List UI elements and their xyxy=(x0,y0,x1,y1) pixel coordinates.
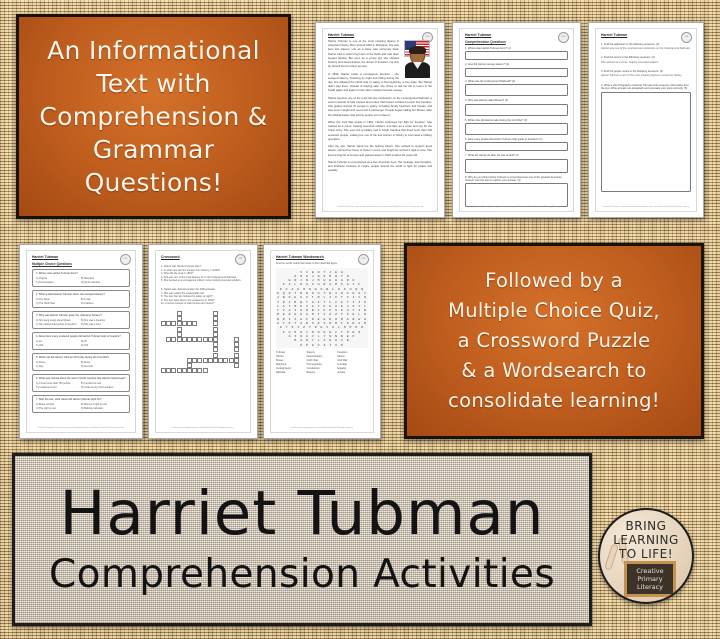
page-footer: Creative Primary Literacy www.teacherspa… xyxy=(601,206,691,208)
mcq-option[interactable]: B) Scout xyxy=(81,361,126,364)
mcq-option[interactable]: A) Virginia xyxy=(36,277,81,280)
paragraph: Harriet Tubman is remembered as a true A… xyxy=(328,161,432,174)
mcq-option[interactable]: A) It freed more than 700 people xyxy=(36,382,81,385)
page-crossword-inner: CPL Crossword 1. Where was Harriet Tubma… xyxy=(155,250,251,433)
page-mcq-title: Harriet Tubman xyxy=(32,255,130,259)
mcq-options: A) Virginia C) Pennsylvania B) Maryland … xyxy=(36,277,126,285)
grammar-prompt: 1. Find the adjectives in the following … xyxy=(601,43,691,46)
preview-page-grammar: CPL Harriet Tubman 1. Find the adjective… xyxy=(588,22,704,218)
grammar-sentence: Harriet Tubman is one of the most inspir… xyxy=(601,74,691,77)
crossword-cell[interactable] xyxy=(171,321,176,326)
crossword-cell[interactable] xyxy=(208,337,213,342)
mcq-item[interactable]: 4. About how many enslaved people did Ha… xyxy=(32,332,130,350)
brand-tagline-line-2: LEARNING xyxy=(600,533,692,547)
crossword-cell[interactable] xyxy=(182,368,187,373)
promo-right-line-4: & a Wordsearch to xyxy=(461,356,646,386)
page-grammar-title: Harriet Tubman xyxy=(601,33,691,37)
mcq-options: A) 10 C) 300 B) 70 D) 700 xyxy=(36,340,126,348)
mcq-option-column-left: A) She sang songs about Moses C) She hel… xyxy=(36,319,81,327)
promo-panel-right: Followed by a Multiple Choice Quiz, a Cr… xyxy=(404,243,704,439)
promo-top-line-2: Text with xyxy=(96,67,210,100)
crossword-cell[interactable] xyxy=(229,358,234,363)
question-text: 2. How did Harriet escape slavery? (2) xyxy=(465,63,568,66)
mcq-option[interactable]: B) She was a preacher xyxy=(81,319,126,322)
mcq-option[interactable]: D) Building railroads xyxy=(81,407,126,410)
crossword-cell[interactable] xyxy=(234,363,239,368)
mcq-option[interactable]: D) 700 xyxy=(81,344,126,347)
mcq-option-column-left: A) The Moon C) The North Star xyxy=(36,298,81,306)
chalkboard-line-2: Primary xyxy=(637,575,662,583)
wordsearch-word-column: SlaveryDeterminationNorth StarPennsylvan… xyxy=(307,351,338,374)
mcq-option[interactable]: D) General xyxy=(81,365,126,368)
mcq-option[interactable]: C) The North Star xyxy=(36,302,81,305)
mcq-item[interactable]: 7. After the war, what cause did Harriet… xyxy=(32,395,130,413)
grammar-prompt: 3. Find the proper nouns in the followin… xyxy=(601,70,691,73)
crossword-cell[interactable] xyxy=(203,368,208,373)
mcq-option-column-left: A) Better schools C) The right to rest xyxy=(36,403,81,411)
page-subtitle: Comprehension Activities xyxy=(49,549,555,601)
page-wordsearch-inner: CPL Harriet Tubman Wordsearch Find the w… xyxy=(270,250,374,433)
page-text-inner: CPL Harriet Tubman Harriet Tubman is one… xyxy=(322,28,438,212)
mcq-options: A) Nurse C) Spy B) Scout D) General xyxy=(36,361,126,369)
mcq-options: A) She sang songs about Moses C) She hel… xyxy=(36,319,126,327)
crossword-grid[interactable] xyxy=(161,311,245,383)
promo-top-line-5: Questions! xyxy=(85,166,223,199)
mcq-option[interactable]: A) Better schools xyxy=(36,403,81,406)
brand-tagline-line-1: BRING xyxy=(600,519,692,533)
page-footer: Creative Primary Literacy www.teacherspa… xyxy=(328,206,432,208)
crossword-clue: 10. A secret network of safe houses and … xyxy=(161,302,245,306)
mcq-option-column-right: B) Women's right to vote D) Building rai… xyxy=(81,403,126,411)
wordsearch-word-column: TubmanHarrietMosesMarylandUndergroundRai… xyxy=(276,351,307,374)
preview-page-crossword: CPL Crossword 1. Where was Harriet Tubma… xyxy=(148,244,258,439)
grammar-sentence: She worked as a nurse, helping wounded s… xyxy=(601,61,691,64)
answer-box[interactable] xyxy=(601,92,691,192)
mcq-option[interactable]: D) She was a chef xyxy=(81,323,126,326)
mcq-option-column-right: B) It ended the war D) It was led by Uni… xyxy=(81,382,126,390)
mcq-question: 3. Why was Harriet Tubman given the nick… xyxy=(36,314,126,317)
question-text: 5. What roles did Harriet take during th… xyxy=(465,119,568,122)
page-footer: www.teacherspayteachers.com/Store/Creati… xyxy=(276,427,368,429)
cpl-stamp-icon: CPL xyxy=(558,32,569,43)
mcq-question: 5. What role did Harriet Tubman NOT play… xyxy=(36,356,126,359)
page-footer: Creative Primary Literacy www.teacherspa… xyxy=(32,427,130,429)
answer-box[interactable] xyxy=(465,123,568,135)
crossword-cell[interactable] xyxy=(171,337,176,342)
question-text: 3. What was the Underground Railroad? (2… xyxy=(465,80,568,83)
mcq-option-column-right: B) Scout D) General xyxy=(81,361,126,369)
mcq-option-column-left: A) 10 C) 300 xyxy=(36,340,81,348)
wordsearch-word-column: FreedomMosesCivil WarCourageEqualityJust… xyxy=(337,351,368,374)
answer-box[interactable] xyxy=(465,142,568,151)
mcq-question: 2. What guided Harriet Tubman when she e… xyxy=(36,293,126,296)
mcq-option[interactable]: C) Pennsylvania xyxy=(36,281,81,284)
cpl-stamp-icon: CPL xyxy=(120,254,131,265)
question-text: 4. Why was Harriet called Moses? (2) xyxy=(465,99,568,102)
page-questions-subtitle: Comprehension Questions xyxy=(465,40,568,44)
mcq-options: A) Better schools C) The right to rest B… xyxy=(36,403,126,411)
question-text: 6. How many people did Harriet Tubman he… xyxy=(465,138,568,141)
mcq-option[interactable]: B) Women's right to vote xyxy=(81,403,126,406)
promo-right-line-3: a Crossword Puzzle xyxy=(458,326,651,356)
paragraph: When the Civil War began in 1861, Harrie… xyxy=(328,121,432,142)
page-footer: www.teacherspayteachers.com/Store/Creati… xyxy=(161,427,245,429)
wordsearch-word: Bravery xyxy=(307,371,336,375)
mcq-question: 6. What was special about the raid in So… xyxy=(36,377,126,380)
mcq-option[interactable]: B) A map xyxy=(81,298,126,301)
title-banner: Harriet Tubman Comprehension Activities xyxy=(12,453,592,626)
mcq-option-column-left: A) Virginia C) Pennsylvania xyxy=(36,277,81,285)
mcq-option-column-right: B) A map D) A lantern xyxy=(81,298,126,306)
grammar-prompt: 2. Find the nouns in the following sente… xyxy=(601,56,691,59)
mcq-option-column-left: A) Nurse C) Spy xyxy=(36,361,81,369)
preview-page-wordsearch: CPL Harriet Tubman Wordsearch Find the w… xyxy=(263,244,381,439)
mcq-item[interactable]: 2. What guided Harriet Tubman when she e… xyxy=(32,290,130,308)
cpl-stamp-icon: CPL xyxy=(358,254,369,265)
question-text: 8. Why do you think Harriet Tubman is re… xyxy=(465,176,568,182)
answer-box[interactable] xyxy=(465,183,568,207)
promo-right-line-2: Multiple Choice Quiz, xyxy=(448,296,660,326)
page-text-title: Harriet Tubman xyxy=(328,33,432,37)
mcq-option[interactable]: C) The right to rest xyxy=(36,407,81,410)
preview-page-text: CPL Harriet Tubman Harriet Tubman is one… xyxy=(315,22,445,218)
wordsearch-grid[interactable]: V I E N Y J E H O M D J Q S M W Y N W Q … xyxy=(276,268,368,348)
question-text: 1. Where was Harriet Tubman born? (1) xyxy=(465,47,568,50)
grammar-prompt: 4. Write a short biography of Harriet Tu… xyxy=(601,84,691,90)
portrait-hair xyxy=(409,46,426,54)
mcq-item[interactable]: 3. Why was Harriet Tubman given the nick… xyxy=(32,311,130,329)
brand-tagline-line-3: TO LIFE! xyxy=(600,547,692,561)
page-grammar-inner: CPL Harriet Tubman 1. Find the adjective… xyxy=(595,28,697,212)
product-cover: An Informational Text with Comprehension… xyxy=(0,0,720,639)
answer-box[interactable] xyxy=(465,68,568,77)
wordsearch-word: Railroad xyxy=(276,371,305,375)
question-text: 7. What did Harriet do after the war end… xyxy=(465,154,568,157)
mcq-item[interactable]: 1. Where was Harriet Tubman born? A) Vir… xyxy=(32,269,130,287)
cpl-stamp-icon: CPL xyxy=(235,254,246,265)
answer-box[interactable] xyxy=(465,84,568,96)
chalkboard-line-1: Creative xyxy=(636,567,663,575)
grammar-sentence: Harriet was one of the most famous condu… xyxy=(601,47,691,50)
page-wordsearch-title: Harriet Tubman Wordsearch xyxy=(276,255,368,259)
page-footer: Creative Primary Literacy www.teacherspa… xyxy=(465,206,568,208)
mcq-item[interactable]: 6. What was special about the raid in So… xyxy=(32,374,130,392)
wordsearch-instructions: Find the words below that relate to this… xyxy=(276,262,368,265)
crossword-cell[interactable] xyxy=(192,321,197,326)
preview-page-mcq: CPL Harriet Tubman Multiple Choice Quest… xyxy=(19,244,143,439)
mcq-question: 7. After the war, what cause did Harriet… xyxy=(36,398,126,401)
answer-box[interactable] xyxy=(465,51,568,60)
mcq-option[interactable]: B) 70 xyxy=(81,340,126,343)
chalkboard-line-3: Literacy xyxy=(637,583,663,591)
mcq-option[interactable]: B) It ended the war xyxy=(81,382,126,385)
page-title: Harriet Tubman xyxy=(60,479,545,549)
promo-right-line-1: Followed by a xyxy=(485,266,623,296)
mcq-option[interactable]: D) A lantern xyxy=(81,302,126,305)
wordsearch-word: Justice xyxy=(337,371,366,375)
mcq-option[interactable]: D) It was led by Union soldiers xyxy=(81,386,126,389)
mcq-option[interactable]: A) The Moon xyxy=(36,298,81,301)
mcq-option[interactable]: A) Nurse xyxy=(36,361,81,364)
page-mcq-inner: CPL Harriet Tubman Multiple Choice Quest… xyxy=(26,250,136,433)
mcq-options: A) It freed more than 700 people C) It c… xyxy=(36,382,126,390)
mcq-option-column-right: B) Maryland D) South Carolina xyxy=(81,277,126,285)
paragraph: After the war, Harriet spent her life he… xyxy=(328,145,432,158)
harriet-tubman-illustration xyxy=(402,40,432,78)
mcq-option[interactable]: B) Maryland xyxy=(81,277,126,280)
mcq-option[interactable]: D) South Carolina xyxy=(81,281,126,284)
mcq-option-column-right: B) 70 D) 700 xyxy=(81,340,126,348)
mcq-option[interactable]: C) She helped lead people to freedom xyxy=(36,323,81,326)
page-mcq-subtitle: Multiple Choice Questions xyxy=(32,262,130,266)
preview-page-questions: CPL Harriet Tubman Comprehension Questio… xyxy=(452,22,581,218)
mcq-item[interactable]: 5. What role did Harriet Tubman NOT play… xyxy=(32,353,130,371)
wordsearch-word-list: TubmanHarrietMosesMarylandUndergroundRai… xyxy=(276,351,368,374)
page-questions-inner: CPL Harriet Tubman Comprehension Questio… xyxy=(459,28,574,212)
mcq-options: A) The Moon C) The North Star B) A map D… xyxy=(36,298,126,306)
mcq-option[interactable]: A) 10 xyxy=(36,340,81,343)
brand-tagline: BRING LEARNING TO LIFE! xyxy=(600,519,692,561)
cpl-stamp-icon: CPL xyxy=(681,32,692,43)
page-crossword-title: Crossword xyxy=(161,255,245,259)
crossword-clue: 5. She worked as a courageous military n… xyxy=(161,279,245,283)
mcq-option[interactable]: C) It captured a fort xyxy=(36,386,81,389)
mcq-question: 1. Where was Harriet Tubman born? xyxy=(36,272,126,275)
mcq-question: 4. About how many enslaved people did Ha… xyxy=(36,335,126,338)
brand-badge: BRING LEARNING TO LIFE! Creative Primary… xyxy=(598,508,694,604)
answer-box[interactable] xyxy=(465,159,568,173)
promo-top-line-3: Comprehension & xyxy=(39,100,267,133)
promo-top-line-1: An Informational xyxy=(47,34,260,67)
promo-panel-top: An Informational Text with Comprehension… xyxy=(16,14,291,219)
mcq-option[interactable]: C) Spy xyxy=(36,365,81,368)
answer-box[interactable] xyxy=(465,104,568,116)
promo-right-line-5: consolidate learning! xyxy=(448,386,660,416)
mcq-option-column-right: B) She was a preacher D) She was a chef xyxy=(81,319,126,327)
mcq-option[interactable]: A) She sang songs about Moses xyxy=(36,319,81,322)
mcq-option[interactable]: C) 300 xyxy=(36,344,81,347)
page-questions-title: Harriet Tubman xyxy=(465,33,568,37)
chalkboard-icon: Creative Primary Literacy xyxy=(624,561,676,597)
mcq-option-column-left: A) It freed more than 700 people C) It c… xyxy=(36,382,81,390)
paragraph: Harriet became one of the most famous co… xyxy=(328,97,432,118)
promo-top-line-4: Grammar xyxy=(93,133,214,166)
